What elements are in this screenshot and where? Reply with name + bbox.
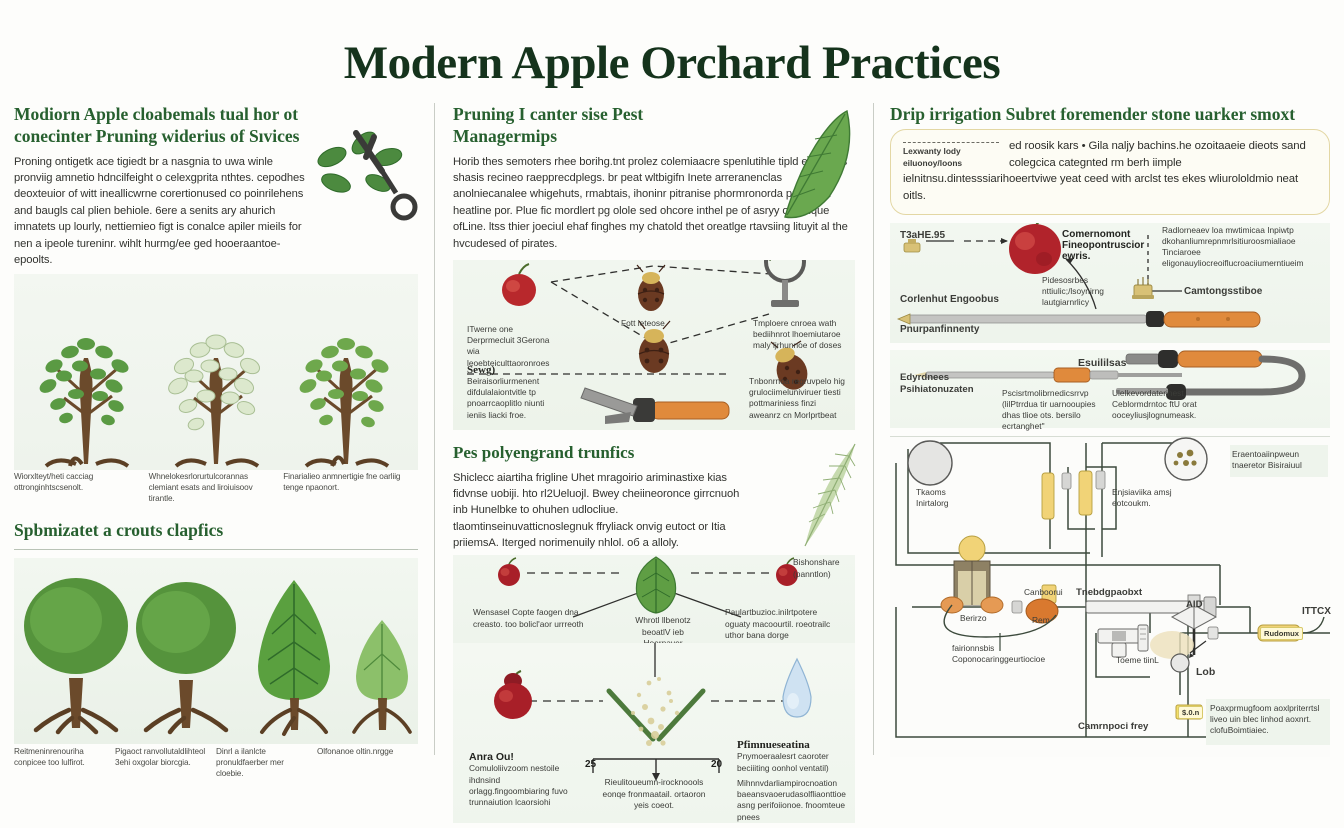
leaf-icon: [771, 105, 861, 225]
three-trees-svg: [14, 274, 418, 470]
pest-subsection-text: Beiraisorliurmenent difdulalaiontvitle t…: [467, 376, 563, 421]
left-header-block: Modiorn Apple cloabemals tual hor ot con…: [14, 103, 418, 268]
schematic-label: AID: [1186, 599, 1203, 612]
schematic-label: Canboorui: [1024, 587, 1068, 598]
leaf-label: Paulartbuzioc.inilrtpotere oguaty macoou…: [725, 607, 837, 641]
pruning-shears-icon: [312, 127, 422, 223]
spray-application-diagram: Anra Ou! Comuloliivzoom nestoile ihdnsin…: [453, 643, 855, 823]
left-section-body: Proning ontigetk ace tigiedt br a nasgni…: [14, 154, 314, 268]
tool-label: Pscisrtmolibrnedicsrrvp (lilPtrrdua tir …: [1002, 388, 1098, 433]
infographic-poster: Modern Apple Orchard Practices Modiorn A…: [0, 0, 1344, 768]
irrigation-schematic-panel: Tkaoms Inirtalorg Enjsiaviika amsj eotco…: [890, 436, 1330, 757]
tool-label: Ulelkevordaterihest Ceblormdrntoc ftU or…: [1112, 388, 1216, 422]
middle-header-block: Pruning I canter sise Pest Managermips H…: [453, 103, 855, 252]
schematic-label: Poaxprmugfoom aoxlpriterrtsl liveo uin b…: [1210, 703, 1326, 737]
middle-subsection-body: Shiclecc aiartiha frigline Uhet mragoiri…: [453, 470, 743, 552]
schematic-label: Toeme tiinL: [1116, 655, 1168, 666]
component-label-group: Comernomont Fineopontruscior ewris.: [1062, 229, 1148, 262]
left-section-heading: Modiorn Apple cloabemals tual hor ot con…: [14, 103, 314, 148]
component-label: Radlorneaev loa mwtimicaa Inpiwtp dkohan…: [1162, 225, 1326, 270]
schematic-label: Enjsiaviika amsj eotcoukm.: [1112, 487, 1176, 510]
pest-label: Fott leteose: [621, 318, 701, 329]
spray-right-sub: Pnymoeraalesrt caoroter beciiiting oonho…: [737, 751, 849, 774]
tool-label: Esuililsas: [1078, 356, 1126, 370]
shape-caption: Dinrl a ilanlcte pronuldfaerber mer cloe…: [216, 747, 317, 780]
tool-label-group: Edyrdnees Psihiatonuzaten: [900, 372, 978, 398]
nutrient-leaf-diagram: Bishonshare (panntlon) Wensasel Copte fa…: [453, 555, 855, 643]
middle-column: Pruning I canter sise Pest Managermips H…: [434, 103, 874, 755]
left-column: Modiorn Apple cloabemals tual hor ot con…: [14, 103, 434, 755]
callout-side-block: Lexwanty lody eiluonoy/loons: [903, 140, 999, 169]
spray-right-label-group: Pfimnueseatina Pnymoeraalesrt caoroter b…: [737, 739, 849, 823]
leaf-label: Wensasel Copte faogen dna creasto. too b…: [473, 607, 585, 630]
shape-caption-row: Reitmeninrenouriha conpicee too lulfirot…: [14, 747, 418, 780]
tree-caption: Wiorxlteyt/heti cacciag ottronginhtscsen…: [14, 472, 149, 505]
component-title: Comernomont Fineopontruscior ewris.: [1062, 229, 1148, 262]
spray-measure-left: 25: [585, 759, 596, 770]
component-label: Pnurpanfinnenty: [900, 323, 979, 336]
tree-caption-row: Wiorxlteyt/heti cacciag ottronginhtscsen…: [14, 472, 418, 505]
spray-label-text: Comuloliivzoom nestoile ihdnsind orlagg.…: [469, 763, 575, 808]
schematic-label: fairionnsbis Coponocaringgeurtiocioe: [952, 643, 1052, 666]
dashed-divider: [903, 142, 999, 143]
shape-caption: Reitmeninrenouriha conpicee too lulfirot…: [14, 747, 115, 780]
schematic-label: Berirzo: [960, 613, 1016, 624]
schematic-label: Tnebdgpaobxt: [1076, 587, 1142, 600]
schematic-label: Rem: [1032, 615, 1066, 626]
right-section-heading: Drip irrigation Subret foremender stone …: [890, 103, 1330, 125]
canopy-shapes-svg: [14, 558, 418, 744]
tree-caption: Finarialieo anmnertigie fne oarliig teng…: [283, 472, 418, 505]
schematic-label: Lob: [1196, 665, 1215, 679]
canopy-shapes-illustration: [14, 558, 418, 744]
irrigation-tools-panel: Esuililsas Edyrdnees Psihiatonuzaten Psc…: [890, 350, 1330, 428]
spray-measure-right: 20: [711, 759, 722, 770]
left-subsection-heading: Spbmizatet a crouts clapfics: [14, 519, 418, 541]
schematic-label: Eraentoaiinpweun tnaeretor Bisiraiuul: [1232, 449, 1324, 472]
pest-label: Tnbonrnoa regruvpelo hig grulociimeluniv…: [749, 376, 849, 421]
leaf-label: Bishonshare (panntlon): [793, 557, 863, 580]
pest-label: Tmploere cnroea wath bediihnrot lhoemiut…: [753, 318, 849, 352]
divider: [14, 549, 418, 550]
component-label: T3aHE.95: [900, 229, 945, 242]
tool-label: Edyrdnees Psihiatonuzaten: [900, 372, 978, 398]
irrigation-callout-box: Lexwanty lody eiluonoy/loons ed roosik k…: [890, 129, 1330, 214]
component-label: Corlenhut Engoobus: [900, 293, 999, 306]
schematic-label: Tkaoms Inirtalorg: [916, 487, 972, 510]
spray-right-title: Pfimnueseatina: [737, 739, 849, 751]
left-subsection-header: Spbmizatet a crouts clapfics: [14, 519, 418, 549]
middle-subsection-block: Pes polyengrand trunfics Shiclecc aiarti…: [453, 442, 855, 551]
spray-left-label-group: Anra Ou! Comuloliivzoom nestoile ihdnsin…: [469, 751, 575, 808]
feather-icon: [785, 440, 863, 558]
component-label: Camtongsstiboe: [1184, 285, 1262, 298]
pest-subsection-title: Sewg): [467, 364, 563, 376]
spray-label-title: Anra Ou!: [469, 751, 575, 763]
pest-label: ITwerne one Derprmecluit 3Gerona wia leo…: [467, 324, 559, 369]
tree-caption: Whnelokesrlorurtulcorannas clemiant esat…: [149, 472, 284, 505]
page-title: Modern Apple Orchard Practices: [0, 0, 1344, 87]
column-container: Modiorn Apple cloabemals tual hor ot con…: [0, 103, 1344, 755]
schematic-badge: $.0.n: [1178, 706, 1203, 719]
pruning-stages-illustration: [14, 274, 418, 470]
shape-caption: Pigaoct ranvollutaldlihteol 3ehi oxgolar…: [115, 747, 216, 780]
schematic-badge: Rudomux: [1260, 627, 1303, 640]
schematic-label: Camrnpoci frey: [1078, 721, 1148, 734]
callout-side-label: Lexwanty lody eiluonoy/loons: [903, 146, 999, 169]
shape-caption: Olfonanoe oltin.nrgge: [317, 747, 418, 780]
schematic-label: ITTCX: [1302, 605, 1331, 618]
pest-subsection: Sewg) Beiraisorliurmenent difdulalaiontv…: [467, 364, 563, 421]
component-label: Pidesosrbes nttiulic;/lsoynirng lautgiar…: [1042, 275, 1108, 309]
middle-section-heading: Pruning I canter sise Pest Managermips: [453, 103, 693, 148]
pest-management-diagram: ITwerne one Derprmecluit 3Gerona wia leo…: [453, 260, 855, 430]
spray-right-text: Mihnnvdarliampirocnoation baeansvaoeruda…: [737, 778, 849, 823]
irrigation-components-panel: T3aHE.95 Comernomont Fineopontruscior ew…: [890, 223, 1330, 343]
spray-center-label: Rieulitoueumn-irocknoools eonqe fronmaat…: [595, 777, 713, 811]
right-column: Drip irrigation Subret foremender stone …: [874, 103, 1330, 755]
